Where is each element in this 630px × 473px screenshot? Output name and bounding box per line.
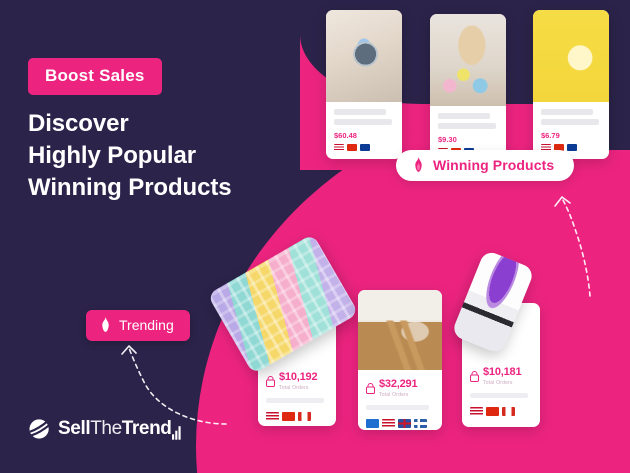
shopping-bag-icon [470, 371, 479, 382]
order-stat: $10,192 Total Orders [266, 372, 328, 391]
boost-sales-badge[interactable]: Boost Sales [28, 58, 162, 95]
flag-fi-icon [414, 419, 427, 428]
order-stat: $10,181 Total Orders [470, 367, 532, 386]
order-amount: $32,291 [379, 379, 417, 391]
flag-uk-icon [398, 419, 411, 428]
swoosh-icon [28, 418, 52, 440]
order-sub-label: Total Orders [379, 392, 417, 398]
skeleton-line [470, 393, 528, 398]
headline-line-1: Discover [28, 108, 288, 140]
flag-us-icon [470, 407, 483, 416]
skeleton-line [438, 123, 496, 129]
flag-cn-icon [282, 412, 295, 421]
trending-label: Trending [119, 317, 174, 333]
promo-banner: $60.48 $9.30 $6.79 [0, 0, 630, 473]
order-amount: $10,192 [279, 372, 317, 384]
headline-line-2: Highly Popular [28, 140, 288, 172]
flag-ca-icon [502, 407, 515, 416]
flag-ca-icon [298, 412, 311, 421]
flag-us-icon [382, 419, 395, 428]
skeleton-line [541, 119, 599, 125]
flag-row [334, 144, 394, 151]
flag-cn-icon [486, 407, 499, 416]
product-price: $60.48 [334, 131, 394, 140]
order-sub-label: Total Orders [279, 385, 317, 391]
logo-part-the: The [90, 418, 122, 440]
flame-icon [99, 317, 112, 333]
skeleton-line [334, 119, 392, 125]
flag-row [470, 407, 532, 416]
order-stat: $32,291 Total Orders [366, 379, 434, 398]
flag-eu-icon [360, 144, 370, 151]
bar-chart-icon [172, 425, 181, 440]
flag-row [366, 419, 434, 428]
headline-line-3: Winning Products [28, 172, 288, 204]
flag-eu-icon [366, 419, 379, 428]
top-product-card[interactable]: $60.48 [326, 10, 402, 159]
product-image [430, 14, 506, 106]
flag-eu-icon [567, 144, 577, 151]
product-image [326, 10, 402, 102]
product-image [533, 10, 609, 102]
order-amount: $10,181 [483, 367, 521, 379]
top-product-card[interactable]: $9.30 [430, 14, 506, 163]
logo-part-sell: Sell [58, 418, 90, 440]
product-image [358, 290, 442, 370]
top-product-card[interactable]: $6.79 [533, 10, 609, 159]
page-title: Discover Highly Popular Winning Products [28, 108, 288, 204]
logo-text: SellTheTrend [58, 418, 181, 440]
flag-us-icon [266, 412, 279, 421]
order-sub-label: Total Orders [483, 380, 521, 386]
flag-cn-icon [347, 144, 357, 151]
product-price: $9.30 [438, 135, 498, 144]
shopping-bag-icon [366, 383, 375, 394]
logo-part-trend: Trend [122, 418, 172, 440]
flag-row [266, 412, 328, 421]
product-price: $6.79 [541, 131, 601, 140]
skeleton-line [266, 398, 324, 403]
skeleton-line [334, 109, 386, 115]
brand-logo[interactable]: SellTheTrend [28, 418, 181, 440]
flag-us-icon [334, 144, 344, 151]
skeleton-line [438, 113, 490, 119]
bottom-product-card[interactable]: $32,291 Total Orders [358, 290, 442, 430]
trending-badge[interactable]: Trending [86, 310, 190, 341]
flame-icon [412, 157, 425, 173]
winning-products-badge[interactable]: Winning Products [396, 150, 574, 181]
shopping-bag-icon [266, 376, 275, 387]
winning-products-label: Winning Products [433, 157, 554, 173]
skeleton-line [541, 109, 593, 115]
skeleton-line [366, 405, 429, 410]
